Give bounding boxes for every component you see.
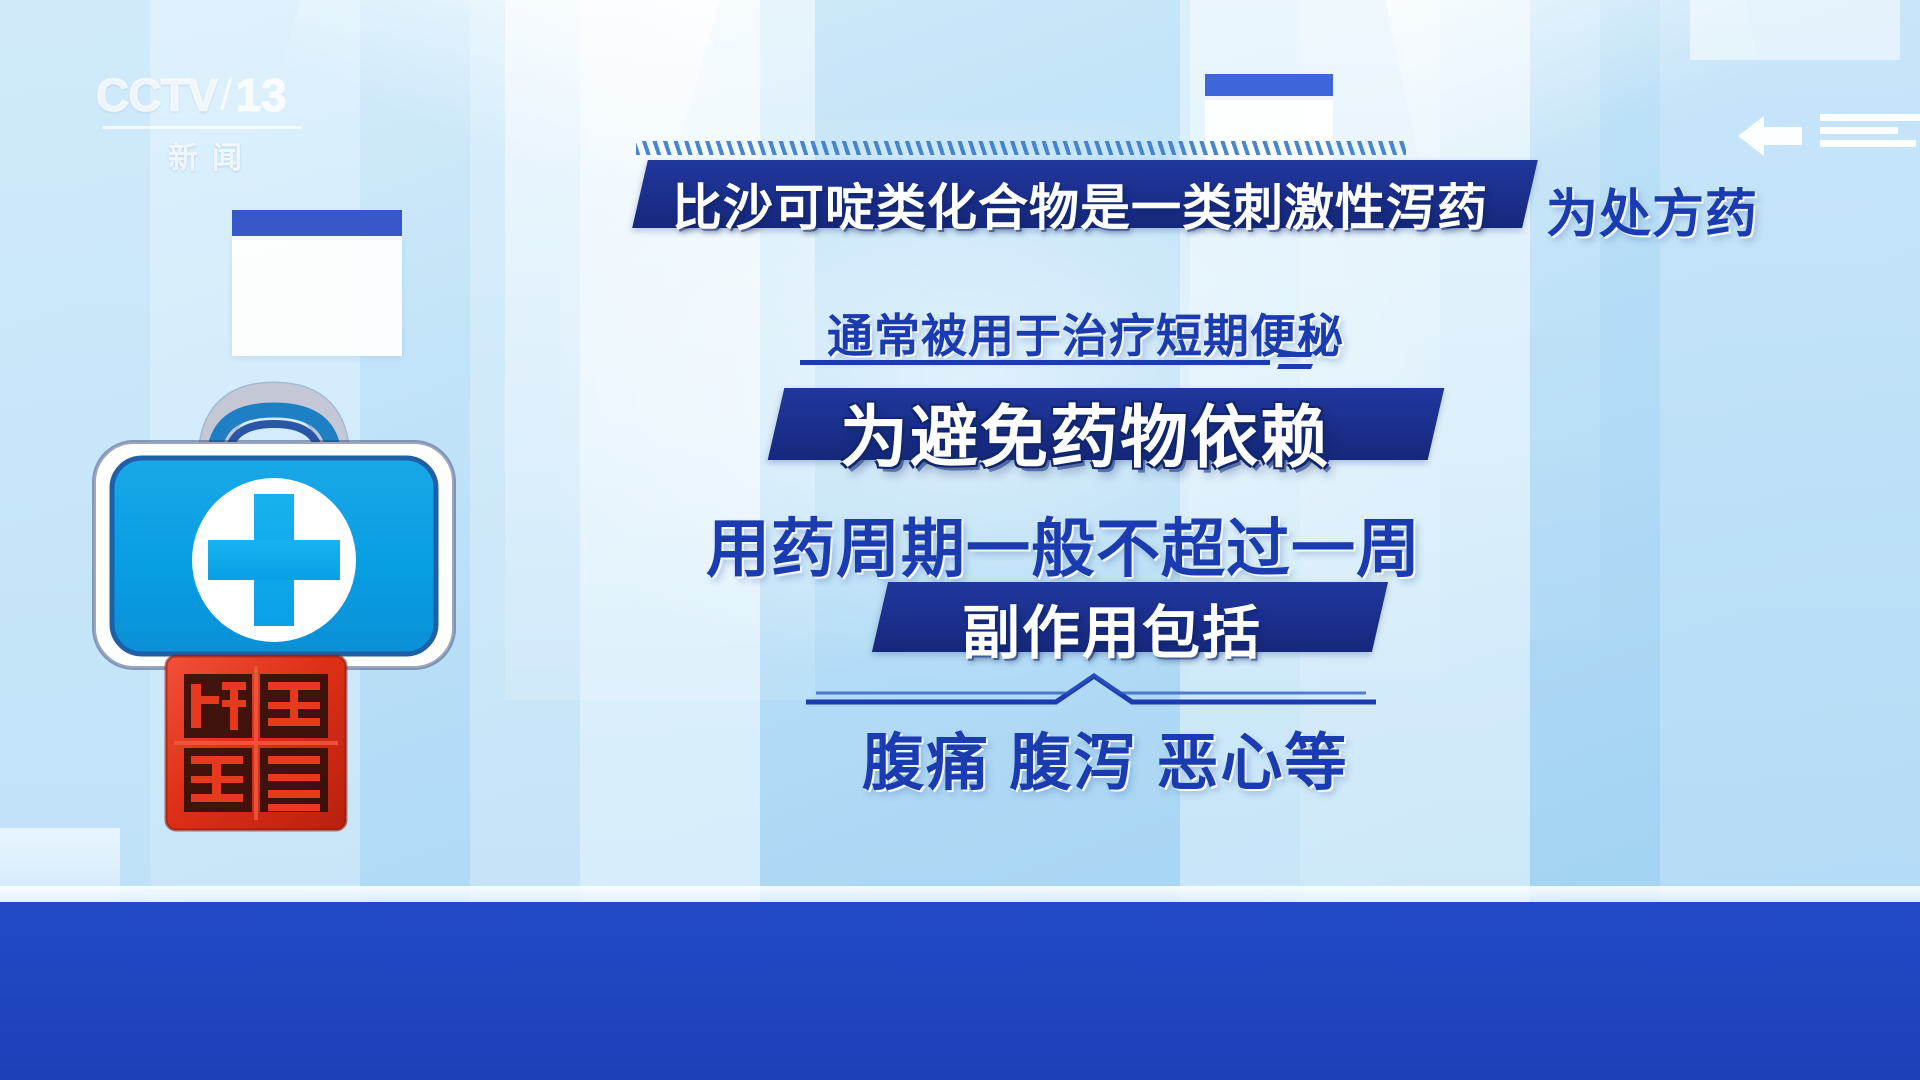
headline-line-1: 比沙可啶类化合物是一类刺激性泻药	[672, 168, 1488, 240]
headline-line-3: 为避免药物依赖	[840, 382, 1330, 481]
infographic-text-block: 比沙可啶类化合物是一类刺激性泻药 为处方药 通常被用于治疗短期便秘 为避免药物依…	[0, 0, 1920, 900]
underline-line-2	[800, 360, 1270, 365]
headline-line-4: 用药周期一般不超过一周	[706, 498, 1421, 590]
headline-line-5: 副作用包括	[962, 586, 1262, 670]
dash-decoration-line-2	[1278, 352, 1312, 376]
chevron-rule-decoration	[806, 672, 1376, 710]
hatched-strip-decoration	[636, 141, 1406, 155]
headline-line-1-tail: 为处方药	[1546, 172, 1758, 247]
headline-line-2: 通常被用于治疗短期便秘	[827, 300, 1344, 366]
floor	[0, 902, 1920, 1080]
headline-line-6: 腹痛 腹泻 恶心等	[862, 712, 1348, 802]
